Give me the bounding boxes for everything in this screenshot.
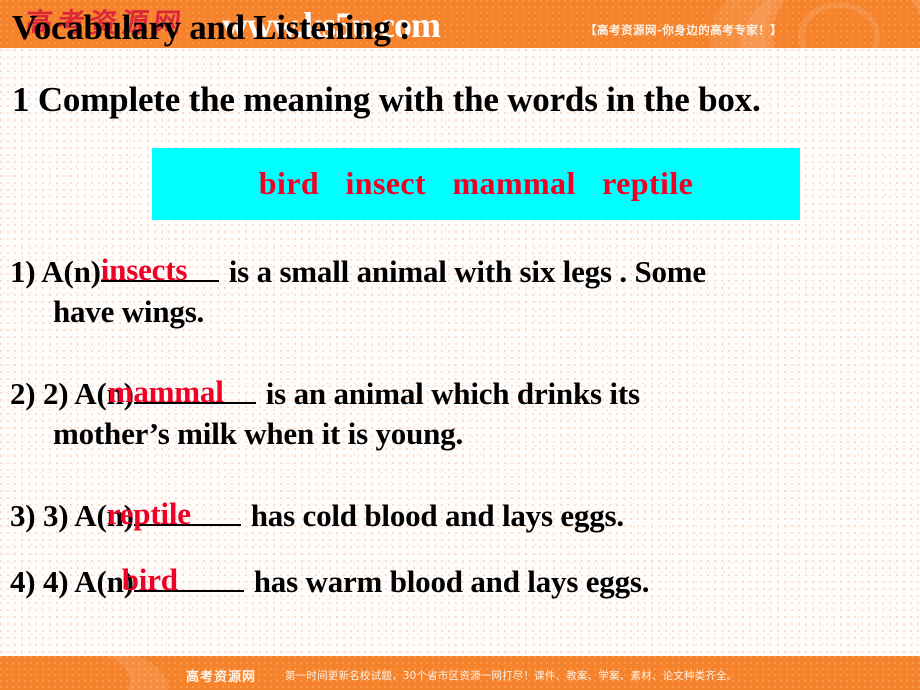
- question-item-1: 1) A(n)insectsis a small animal with six…: [10, 250, 918, 332]
- page-title: Vocabulary and Listening :: [12, 8, 410, 48]
- question-1-before-text: A(n): [41, 254, 100, 289]
- question-3-marker: 3): [10, 498, 35, 533]
- answer-word-4: bird: [122, 560, 178, 600]
- answer-blank-3[interactable]: reptile: [107, 494, 241, 536]
- word-bank-box: bird insect mammal reptile: [152, 148, 800, 220]
- answer-blank-4[interactable]: bird: [122, 560, 244, 602]
- answer-word-3: reptile: [107, 494, 191, 534]
- word-bank-item-bird: bird: [259, 165, 319, 201]
- answer-word-1: insects: [101, 250, 187, 290]
- question-item-3: 3) 3) A(n)reptilehas cold blood and lays…: [10, 494, 918, 536]
- question-item-4: 4) 4) A(n)birdhas warm blood and lays eg…: [10, 560, 918, 602]
- question-1-line-1: 1) A(n)insectsis a small animal with six…: [10, 250, 918, 292]
- question-2-after-text: is an animal which drinks its: [266, 376, 640, 411]
- answer-blank-1[interactable]: insects: [101, 250, 219, 292]
- slide-canvas: www.ks5u.com 高考资源网 【高考资源网-你身边的高考专家！】 Voc…: [0, 0, 920, 690]
- question-4-line-1: 4) 4) A(n)birdhas warm blood and lays eg…: [10, 560, 918, 602]
- question-4-before-text: 4) A(n): [43, 564, 134, 599]
- question-3-line-1: 3) 3) A(n)reptilehas cold blood and lays…: [10, 494, 918, 536]
- question-2-marker: 2): [10, 376, 35, 411]
- question-item-2: 2) 2) A(n)mammalis an animal which drink…: [10, 372, 918, 454]
- answer-word-2: mammal: [108, 372, 224, 412]
- word-bank-item-mammal: mammal: [452, 165, 575, 201]
- question-2-line-2: mother’s milk when it is young.: [10, 414, 918, 454]
- word-bank-item-reptile: reptile: [602, 165, 693, 201]
- footer-note: 第一时间更新名校试题，30个省市区资源一网打尽！课件、教案、学案、素材、论文种类…: [285, 668, 737, 683]
- footer-band: 高考资源网 第一时间更新名校试题，30个省市区资源一网打尽！课件、教案、学案、素…: [0, 656, 920, 690]
- question-4-marker: 4): [10, 564, 35, 599]
- question-4-after-text: has warm blood and lays eggs.: [254, 564, 650, 599]
- question-1-marker: 1): [10, 254, 35, 289]
- answer-blank-2[interactable]: mammal: [108, 372, 256, 414]
- question-1-line-2: have wings.: [10, 292, 918, 332]
- header-tagline: 【高考资源网-你身边的高考专家！】: [585, 22, 782, 38]
- footer-brand: 高考资源网: [186, 666, 256, 685]
- instruction-text: 1 Complete the meaning with the words in…: [12, 80, 761, 120]
- question-2-line-1: 2) 2) A(n)mammalis an animal which drink…: [10, 372, 918, 414]
- footer-swirl-decoration: [0, 656, 136, 690]
- word-bank-item-insect: insect: [345, 165, 426, 201]
- question-3-after-text: has cold blood and lays eggs.: [251, 498, 624, 533]
- question-1-after-text: is a small animal with six legs . Some: [229, 254, 706, 289]
- word-bank-words: bird insect mammal reptile: [152, 165, 800, 202]
